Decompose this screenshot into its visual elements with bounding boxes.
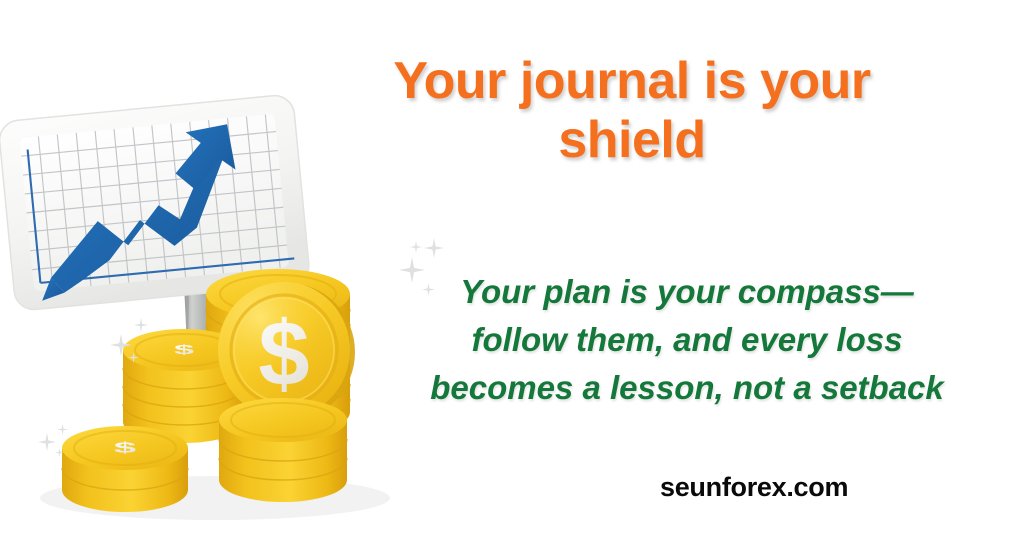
sparkle-icon — [424, 238, 444, 258]
coin-stack-front-right — [219, 398, 347, 502]
dollar-sign-icon: $ — [258, 303, 309, 405]
page-title-line-1: Your journal is your — [352, 52, 912, 111]
website-url: seunforex.com — [660, 472, 848, 503]
svg-text:$: $ — [114, 440, 137, 456]
subtitle-text: Your plan is your compass— follow them, … — [398, 268, 976, 412]
dollar-sign-icon: $ — [174, 343, 194, 357]
page-title: Your journal is your shield — [352, 52, 912, 171]
subtitle-line-1: Your plan is your compass— — [398, 268, 976, 316]
svg-text:$: $ — [174, 343, 194, 357]
poster-canvas: $ $ — [0, 0, 1024, 536]
subtitle-line-2: follow them, and every loss — [398, 316, 976, 364]
page-title-line-2: shield — [352, 111, 912, 170]
subtitle-line-3: becomes a lesson, not a setback — [398, 364, 976, 412]
dollar-sign-icon: $ — [114, 440, 137, 456]
coin-stack-front-left: $ — [62, 426, 188, 512]
